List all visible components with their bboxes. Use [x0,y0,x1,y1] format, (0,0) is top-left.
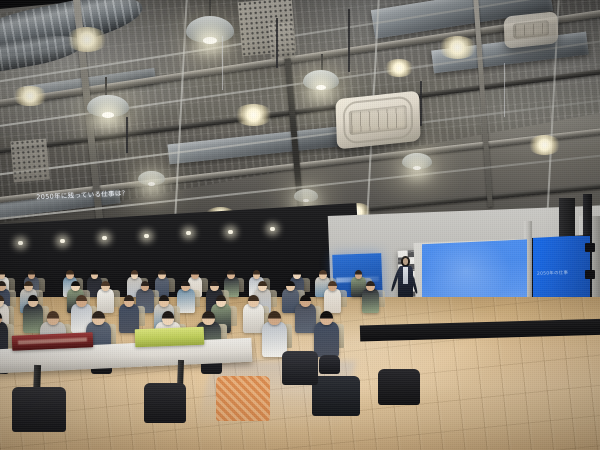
audience-member-head [248,295,259,307]
audience-member-head [258,281,267,291]
bag-backpack-midright [282,351,318,385]
lamp-bulb-1 [203,37,216,44]
audience-member-head [300,295,311,307]
audience-member-head [366,281,375,291]
hanger-wire-1 [222,36,223,90]
spotlight-glow-4 [12,86,48,107]
monitor-bracket-top [585,243,595,252]
green-box-on-table [135,326,205,346]
hanger-wire-2 [504,63,505,117]
spotlight-glow-1 [66,27,108,52]
spotlight-glow-8 [384,59,414,77]
audience-member-head [355,270,363,279]
audience-member-head [162,311,175,326]
audience-member-head [28,295,39,307]
audience-member-head [286,281,295,291]
photo-scene: 2050年に残っている仕事は？ 2050年の仕事 [0,0,600,450]
spotlight-glow-7 [528,135,561,155]
pendant-dome-lamp-2 [87,95,129,118]
track-light-1 [18,241,23,245]
presenter-shirt [403,267,407,284]
audience-member-head [293,270,301,279]
audience-member-body [243,304,264,333]
audience-member-head [216,295,227,307]
track-light-4 [144,234,149,238]
pendant-dome-lamp-1 [186,16,234,43]
pendant-dome-lamp-6 [294,189,318,202]
audience-member-head [92,311,105,326]
audience-member-head [28,270,36,279]
audience-member-head [91,270,99,279]
audience-member-head [158,270,166,279]
pendant-dome-lamp-5 [138,171,165,185]
spotlight-glow-3 [438,36,477,59]
audience-member-head [227,270,235,279]
audience-member-head [202,311,215,326]
audience-member-head [24,281,33,291]
bag-drawstring-center [312,376,360,417]
audience-member-head [159,295,170,307]
audience-member-head [319,270,327,279]
audience-member-body [97,289,114,313]
audience-member-body [362,289,379,313]
bag-black-under-table [144,383,186,424]
audience-member-body [295,304,316,333]
hanger-rod-2 [348,9,350,72]
audience-member-body [314,322,339,357]
audience-floor-bag [319,355,340,374]
track-light-2 [60,239,65,243]
lamp-bulb-5 [148,182,156,186]
bag-orange-patterned [216,376,270,421]
hanger-rod-1 [276,18,278,68]
audience-member-head [320,311,333,326]
bag-black-right [378,369,420,405]
track-light-7 [270,227,275,231]
lamp-bulb-2 [102,112,114,118]
presenter-face [403,258,408,264]
cassette-air-conditioner [335,90,420,148]
cassette-air-conditioner-far [504,11,559,48]
track-light-3 [102,236,107,240]
audience-member-head [124,295,135,307]
audience-member-head [71,281,80,291]
hanger-rod-4 [126,117,128,153]
audience-member-body [324,289,341,313]
hanger-rod-3 [420,81,422,126]
audience-member-head [268,311,281,326]
audience-member-head [191,270,199,279]
perforated-acoustic-panel-left [268,22,295,60]
monitor-bracket-mid [585,270,595,279]
audience-member-head [76,295,87,307]
audience-member-head [66,270,74,279]
cassette-grille-far [512,20,549,39]
audience-member-head [47,311,60,326]
perforated-acoustic-panel-center [10,138,49,181]
pendant-dome-lamp-3 [303,70,339,90]
audience-member-head [253,270,261,279]
audience-member-head [131,270,139,279]
bag-dark-left [12,387,66,432]
pendant-dome-lamp-4 [402,153,432,169]
audience-member-head [0,270,5,279]
wall-display-text: 2050年の仕事 [537,269,587,277]
track-light-6 [228,230,233,234]
lamp-bulb-4 [413,166,421,170]
spotlight-glow-2 [234,104,273,127]
